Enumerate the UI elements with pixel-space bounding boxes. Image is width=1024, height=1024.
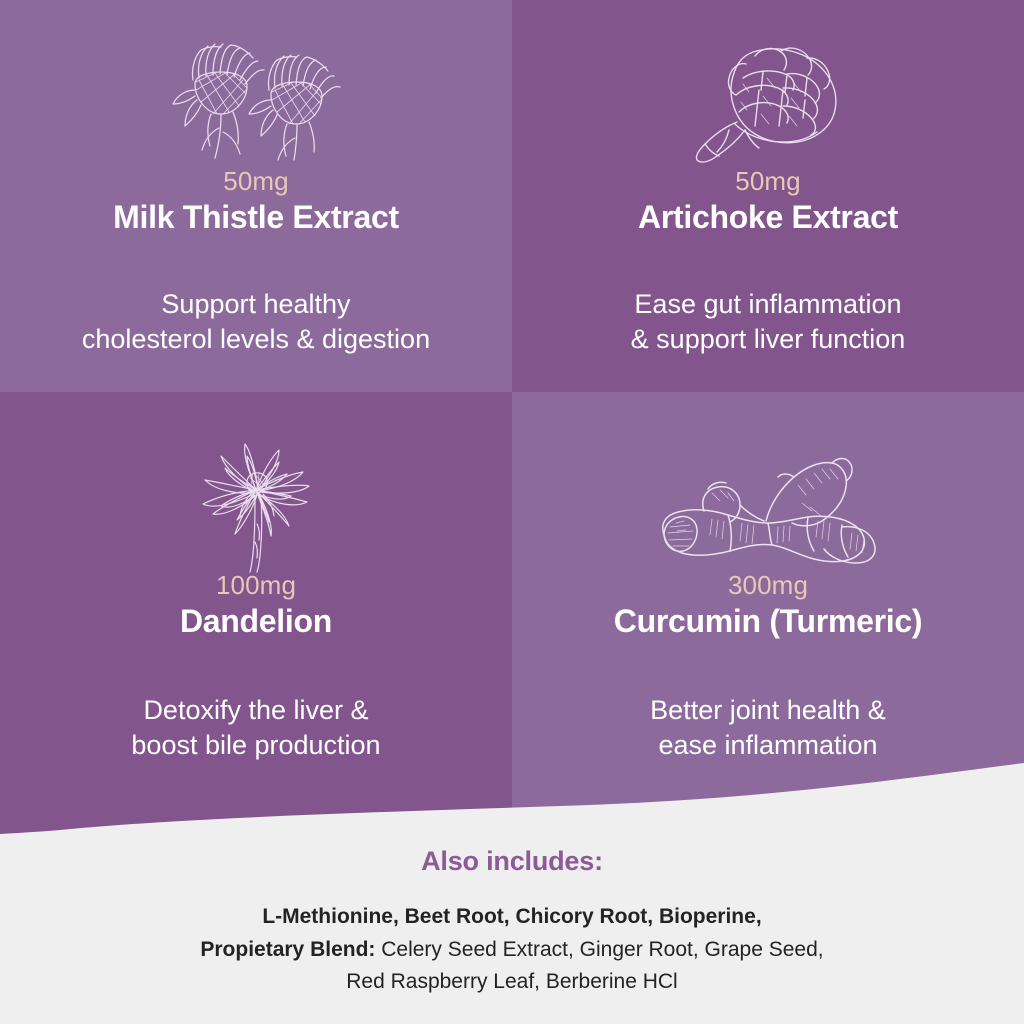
ingredient-card-curcumin: 300mg Curcumin (Turmeric) Better joint h… <box>512 392 1024 860</box>
ginger-root-icon <box>646 392 891 572</box>
milk-thistle-icon <box>161 0 351 168</box>
ingredient-card-dandelion: 100mg Dandelion Detoxify the liver & boo… <box>0 392 512 860</box>
proprietary-blend-items: Celery Seed Extract, Ginger Root, Grape … <box>375 938 823 961</box>
ingredient-card-milk-thistle: 50mg Milk Thistle Extract Support health… <box>0 0 512 392</box>
ingredient-infographic: 50mg Milk Thistle Extract Support health… <box>0 0 1024 1024</box>
ingredient-name: Dandelion <box>180 603 332 641</box>
also-includes-line-3: Red Raspberry Leaf, Berberine HCl <box>200 966 823 999</box>
ingredient-benefit: Support healthy cholesterol levels & dig… <box>82 287 430 358</box>
ingredient-name: Artichoke Extract <box>638 199 898 237</box>
ingredient-benefit: Ease gut inflammation & support liver fu… <box>631 287 906 358</box>
also-includes-section: Also includes: L-Methionine, Beet Root, … <box>0 836 1024 1024</box>
also-includes-line-1: L-Methionine, Beet Root, Chicory Root, B… <box>200 901 823 934</box>
also-includes-title: Also includes: <box>421 846 603 877</box>
dandelion-icon <box>171 392 341 572</box>
ingredient-name: Curcumin (Turmeric) <box>614 603 922 641</box>
ingredient-dose: 50mg <box>223 168 288 194</box>
ingredient-grid: 50mg Milk Thistle Extract Support health… <box>0 0 1024 860</box>
ingredient-benefit: Detoxify the liver & boost bile producti… <box>131 693 380 764</box>
ingredient-name: Milk Thistle Extract <box>113 199 399 237</box>
also-includes-line-2: Propietary Blend: Celery Seed Extract, G… <box>200 934 823 967</box>
ingredient-dose: 50mg <box>735 168 800 194</box>
ingredient-benefit: Better joint health & ease inflammation <box>650 693 886 764</box>
ingredient-dose: 300mg <box>728 572 808 598</box>
ingredient-dose: 100mg <box>216 572 296 598</box>
also-includes-list: L-Methionine, Beet Root, Chicory Root, B… <box>200 901 823 999</box>
ingredient-card-artichoke: 50mg Artichoke Extract Ease gut inflamma… <box>512 0 1024 392</box>
artichoke-icon <box>683 0 853 168</box>
proprietary-blend-label: Propietary Blend: <box>200 938 375 961</box>
